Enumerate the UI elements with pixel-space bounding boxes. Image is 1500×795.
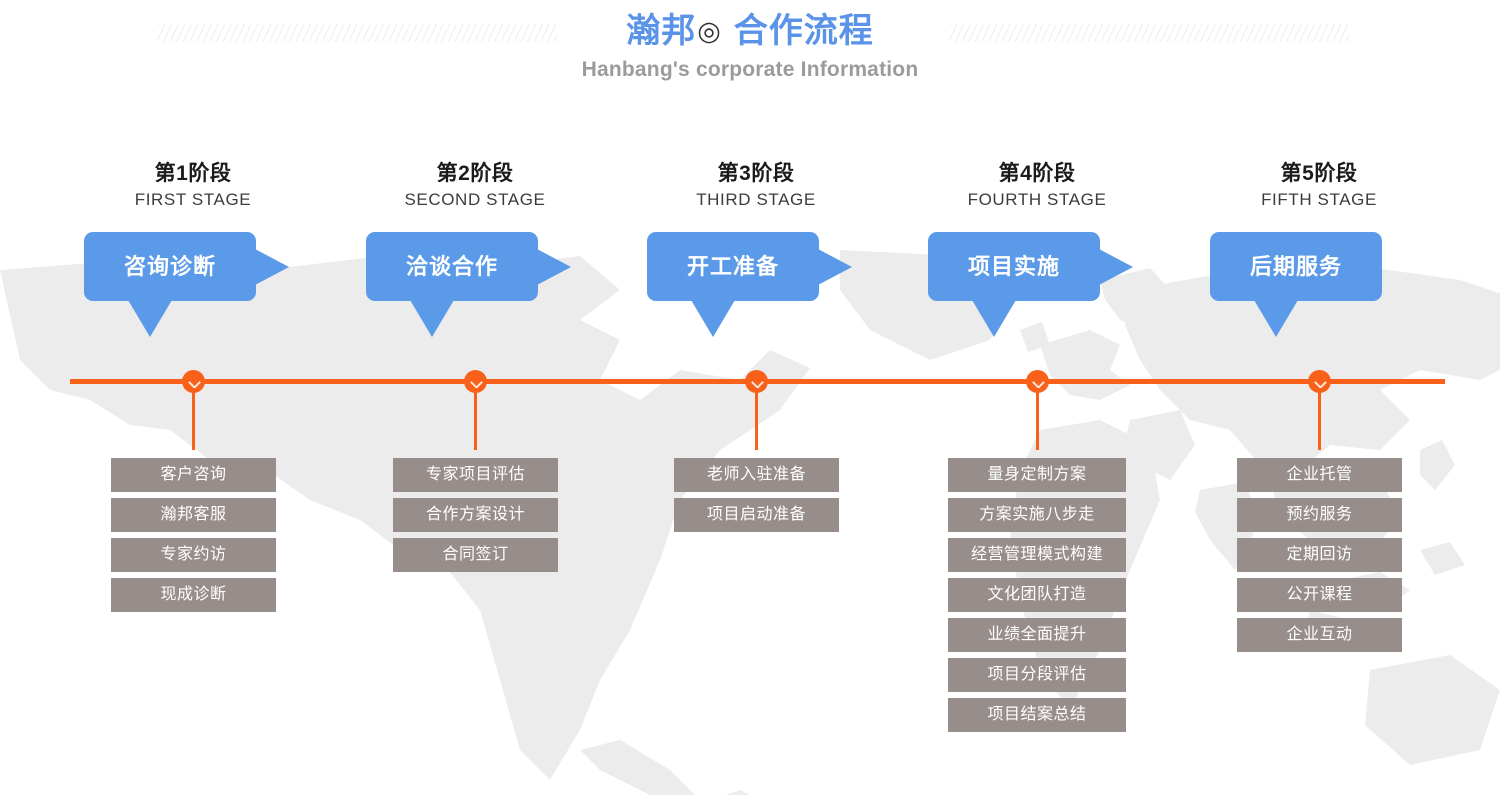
stage-bubble-label: 开工准备 (647, 232, 819, 301)
stage-heading: 第3阶段THIRD STAGE (611, 160, 901, 212)
list-item[interactable]: 合作方案设计 (393, 498, 558, 532)
list-item[interactable]: 现成诊断 (111, 578, 276, 612)
stage-item-list-3: 老师入驻准备项目启动准备 (674, 458, 839, 538)
timeline-drop-line-4 (1036, 388, 1039, 450)
stage-item-list-1: 客户咨询瀚邦客服专家约访现成诊断 (111, 458, 276, 618)
stage-bubble-2[interactable]: 洽谈合作 (366, 232, 538, 301)
chevron-down-icon (188, 376, 201, 389)
page-title: 瀚邦◎合作流程 (0, 8, 1500, 54)
title-main: 合作流程 (734, 12, 874, 50)
arrow-right-icon (255, 249, 289, 285)
chevron-down-icon (751, 376, 764, 389)
stage-title-en: FIRST STAGE (48, 188, 338, 212)
list-item[interactable]: 文化团队打造 (948, 578, 1126, 612)
list-item[interactable]: 经营管理模式构建 (948, 538, 1126, 572)
bubble-tail-pointer-icon (410, 300, 454, 337)
timeline-drop-line-5 (1318, 388, 1321, 450)
list-item[interactable]: 方案实施八步走 (948, 498, 1126, 532)
list-item[interactable]: 合同签订 (393, 538, 558, 572)
stage-title-en: THIRD STAGE (611, 188, 901, 212)
stage-bubble-label: 项目实施 (928, 232, 1100, 301)
chevron-down-icon (1314, 376, 1327, 389)
stage-item-list-5: 企业托管预约服务定期回访公开课程企业互动 (1237, 458, 1402, 658)
circle-mark-icon: ◎ (697, 16, 722, 46)
stage-bubble-label: 洽谈合作 (366, 232, 538, 301)
list-item[interactable]: 定期回访 (1237, 538, 1402, 572)
bubble-tail-pointer-icon (128, 300, 172, 337)
stage-title-cn: 第4阶段 (892, 160, 1182, 188)
stage-bubble-area: 开工准备 (611, 232, 901, 342)
page-subtitle: Hanbang's corporate Information (0, 58, 1500, 82)
bubble-tail-pointer-icon (1254, 300, 1298, 337)
list-item[interactable]: 瀚邦客服 (111, 498, 276, 532)
stage-bubble-1[interactable]: 咨询诊断 (84, 232, 256, 301)
infographic-canvas: 瀚邦◎合作流程 Hanbang's corporate Information … (0, 0, 1500, 795)
list-item[interactable]: 项目分段评估 (948, 658, 1126, 692)
stage-column-3: 第3阶段THIRD STAGE开工准备 (611, 160, 901, 342)
list-item[interactable]: 专家约访 (111, 538, 276, 572)
stage-bubble-5[interactable]: 后期服务 (1210, 232, 1382, 301)
list-item[interactable]: 公开课程 (1237, 578, 1402, 612)
stage-item-list-4: 量身定制方案方案实施八步走经营管理模式构建文化团队打造业绩全面提升项目分段评估项… (948, 458, 1126, 738)
bubble-tail-pointer-icon (972, 300, 1016, 337)
list-item[interactable]: 专家项目评估 (393, 458, 558, 492)
stage-bubble-label: 后期服务 (1210, 232, 1382, 301)
stage-bubble-4[interactable]: 项目实施 (928, 232, 1100, 301)
stage-title-en: SECOND STAGE (330, 188, 620, 212)
timeline-drop-line-1 (192, 388, 195, 450)
list-item[interactable]: 项目启动准备 (674, 498, 839, 532)
stage-heading: 第4阶段FOURTH STAGE (892, 160, 1182, 212)
arrow-right-icon (1099, 249, 1133, 285)
list-item[interactable]: 客户咨询 (111, 458, 276, 492)
stage-bubble-area: 项目实施 (892, 232, 1182, 342)
stage-title-en: FOURTH STAGE (892, 188, 1182, 212)
list-item[interactable]: 老师入驻准备 (674, 458, 839, 492)
stage-column-2: 第2阶段SECOND STAGE洽谈合作 (330, 160, 620, 342)
list-item[interactable]: 业绩全面提升 (948, 618, 1126, 652)
list-item[interactable]: 项目结案总结 (948, 698, 1126, 732)
stage-column-5: 第5阶段FIFTH STAGE后期服务 (1174, 160, 1464, 342)
stage-bubble-area: 后期服务 (1174, 232, 1464, 342)
stage-bubble-area: 咨询诊断 (48, 232, 338, 342)
stage-bubble-3[interactable]: 开工准备 (647, 232, 819, 301)
list-item[interactable]: 预约服务 (1237, 498, 1402, 532)
title-brand: 瀚邦 (626, 12, 696, 50)
chevron-down-icon (1032, 376, 1045, 389)
stage-bubble-label: 咨询诊断 (84, 232, 256, 301)
stage-bubble-area: 洽谈合作 (330, 232, 620, 342)
arrow-right-icon (818, 249, 852, 285)
stage-title-en: FIFTH STAGE (1174, 188, 1464, 212)
header: 瀚邦◎合作流程 Hanbang's corporate Information (0, 0, 1500, 105)
stage-column-4: 第4阶段FOURTH STAGE项目实施 (892, 160, 1182, 342)
timeline-drop-line-3 (755, 388, 758, 450)
list-item[interactable]: 量身定制方案 (948, 458, 1126, 492)
stage-heading: 第1阶段FIRST STAGE (48, 160, 338, 212)
arrow-right-icon (537, 249, 571, 285)
stage-title-cn: 第2阶段 (330, 160, 620, 188)
chevron-down-icon (470, 376, 483, 389)
stage-title-cn: 第5阶段 (1174, 160, 1464, 188)
stage-title-cn: 第1阶段 (48, 160, 338, 188)
list-item[interactable]: 企业互动 (1237, 618, 1402, 652)
stage-heading: 第5阶段FIFTH STAGE (1174, 160, 1464, 212)
bubble-tail-pointer-icon (691, 300, 735, 337)
list-item[interactable]: 企业托管 (1237, 458, 1402, 492)
stage-title-cn: 第3阶段 (611, 160, 901, 188)
stage-heading: 第2阶段SECOND STAGE (330, 160, 620, 212)
stage-column-1: 第1阶段FIRST STAGE咨询诊断 (48, 160, 338, 342)
timeline-drop-line-2 (474, 388, 477, 450)
stage-item-list-2: 专家项目评估合作方案设计合同签订 (393, 458, 558, 578)
